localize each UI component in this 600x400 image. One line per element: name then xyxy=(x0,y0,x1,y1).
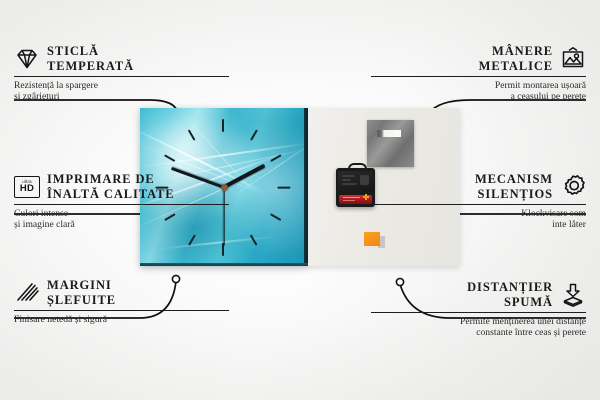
feature-silent-mechanism: MECANISM SILENȚIOS Klockvisare som inte … xyxy=(371,172,586,231)
feature-foam-spacer: DISTANȚIER SPUMĂ Permite menținerea unei… xyxy=(371,280,586,339)
feature-divider xyxy=(371,204,586,205)
metal-hanger-plate xyxy=(367,120,414,167)
feature-title-line2: TEMPERATĂ xyxy=(47,59,134,73)
battery xyxy=(339,195,372,204)
polished-edges-icon xyxy=(14,280,40,306)
feature-desc-line1: Permit montarea ușoară xyxy=(371,80,586,91)
clock-mechanism xyxy=(336,168,375,207)
feature-divider xyxy=(371,76,586,77)
foam-spacer xyxy=(364,232,380,246)
feature-title-line1: MÂNERE xyxy=(492,44,553,58)
feature-desc-line1: Permite menținerea unei distanțe xyxy=(371,316,586,327)
feature-desc-line1: Klockvisare som xyxy=(371,208,586,219)
ultra-hd-icon: ultra HD xyxy=(14,174,40,200)
feature-divider xyxy=(14,204,229,205)
feature-desc-line1: Rezistență la spargere xyxy=(14,80,229,91)
feature-metal-handles: MÂNERE METALICE Permit montarea ușoară a… xyxy=(371,44,586,103)
ultra-hd-icon-large-text: HD xyxy=(20,184,34,194)
feature-desc-line2: inte låter xyxy=(371,219,586,230)
feature-title-line2: SILENȚIOS xyxy=(478,187,554,201)
feature-desc-line2: constante între ceas și perete xyxy=(371,327,586,338)
feature-desc-line1: Culori intense xyxy=(14,208,229,219)
feature-divider xyxy=(14,76,229,77)
feature-divider xyxy=(14,310,229,311)
mechanism-housing xyxy=(338,171,373,192)
gear-icon xyxy=(560,174,586,200)
clock-bottom-edge xyxy=(140,263,308,266)
feature-title-line1: MARGINI xyxy=(47,278,112,292)
diamond-icon xyxy=(14,46,40,72)
picture-hanger-icon xyxy=(560,46,586,72)
hanger-slot xyxy=(377,130,401,137)
feature-desc-line2: și imagine clară xyxy=(14,219,229,230)
feature-high-quality-print: ultra HD IMPRIMARE DE ÎNALTĂ CALITATE Cu… xyxy=(14,172,229,231)
feature-title-line2: ȘLEFUITE xyxy=(47,293,116,307)
feature-title-line1: IMPRIMARE DE xyxy=(47,172,155,186)
feature-title-line2: SPUMĂ xyxy=(504,295,553,309)
clock-tick xyxy=(222,119,224,132)
battery-plus-terminal xyxy=(363,194,369,200)
feature-title-line2: METALICE xyxy=(479,59,553,73)
feature-title-line1: MECANISM xyxy=(475,172,553,186)
feature-desc-line2: a ceasului pe perete xyxy=(371,91,586,102)
feature-polished-edges: MARGINI ȘLEFUITE Finisare netedă și sigu… xyxy=(14,278,229,325)
infographic-canvas: STICLĂ TEMPERATĂ Rezistență la spargere … xyxy=(0,0,600,400)
foam-spacer-icon xyxy=(560,282,586,308)
feature-title-line1: STICLĂ xyxy=(47,44,99,58)
feature-title-line1: DISTANȚIER xyxy=(467,280,553,294)
feature-divider xyxy=(371,312,586,313)
feature-title-line2: ÎNALTĂ CALITATE xyxy=(47,187,175,201)
feature-tempered-glass: STICLĂ TEMPERATĂ Rezistență la spargere … xyxy=(14,44,229,103)
clock-tick xyxy=(277,187,290,189)
feature-desc-line1: Finisare netedă și sigură xyxy=(14,314,229,325)
feature-desc-line2: și zgârieturi xyxy=(14,91,229,102)
